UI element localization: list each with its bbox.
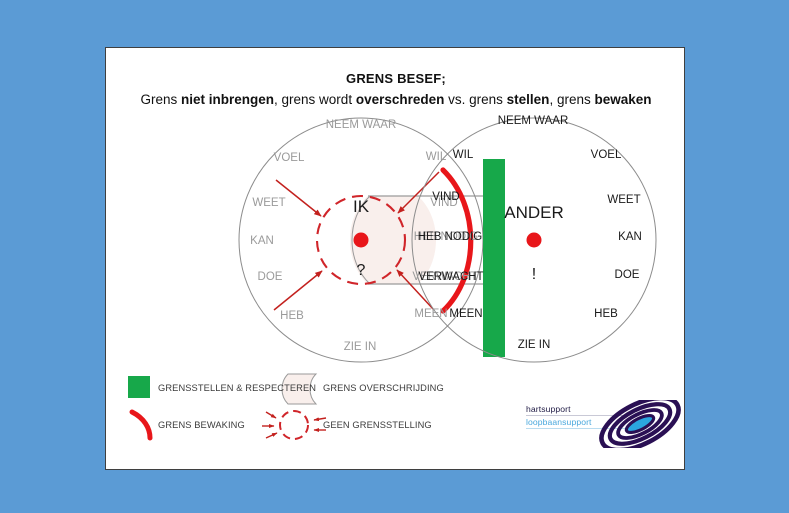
- right-label-neem-waar: NEEM WAAR: [498, 115, 569, 127]
- right-label-kan: KAN: [618, 231, 642, 243]
- green-square-icon: [128, 376, 150, 398]
- legend-label-grensstellen: GRENSSTELLEN & RESPECTEREN: [158, 383, 316, 393]
- left-label-weet: WEET: [252, 197, 285, 209]
- right-center-dot: [527, 233, 542, 248]
- right-center-mark: !: [532, 266, 536, 283]
- legend: GRENSSTELLEN & RESPECTEREN GRENS OVERSCH…: [120, 370, 480, 442]
- right-label-vind: VIND: [432, 191, 459, 203]
- left-label-doe: DOE: [258, 271, 283, 283]
- left-label-kan: KAN: [250, 235, 274, 247]
- right-label-meen: MEEN: [449, 308, 482, 320]
- right-label-voel: VOEL: [591, 149, 622, 161]
- left-center-mark: ?: [357, 262, 366, 279]
- dashed-circle-icon: [262, 411, 326, 439]
- right-label-weet: WEET: [607, 194, 640, 206]
- spiral-galaxy-icon: [596, 400, 684, 448]
- left-label-zie-in: ZIE IN: [344, 341, 377, 353]
- logo-loopbaansupport-text: loopbaansupport: [526, 417, 592, 427]
- right-label-verwacht: VERWACHT: [418, 271, 483, 283]
- left-label-neem-waar: NEEM WAAR: [326, 119, 397, 131]
- legend-label-geen-grensstelling: GEEN GRENSSTELLING: [323, 420, 432, 430]
- logo: hartsupport loopbaansupport: [516, 400, 686, 452]
- right-label-zie-in: ZIE IN: [518, 339, 551, 351]
- legend-icons: [120, 370, 480, 442]
- left-label-voel: VOEL: [274, 152, 305, 164]
- right-label-heb: HEB: [594, 308, 618, 320]
- right-label-doe: DOE: [615, 269, 640, 281]
- left-center-label: IK: [353, 197, 370, 216]
- left-label-heb: HEB: [280, 310, 304, 322]
- left-label-meen: MEEN: [414, 308, 447, 320]
- legend-label-overschrijding: GRENS OVERSCHRIJDING: [323, 383, 444, 393]
- logo-hartsupport-text: hartsupport: [526, 404, 571, 414]
- slide-panel: GRENS BESEF; Grens niet inbrengen, grens…: [105, 47, 685, 470]
- grensstellen-green-bar: [483, 159, 505, 357]
- left-center-dot: [354, 233, 369, 248]
- slide-canvas: GRENS BESEF; Grens niet inbrengen, grens…: [0, 0, 789, 513]
- red-arc-icon: [132, 412, 150, 438]
- left-label-wil: WIL: [426, 151, 447, 163]
- right-label-heb-nodig: HEB NODIG: [418, 231, 483, 243]
- right-label-wil: WIL: [453, 149, 474, 161]
- right-center-label: ANDER: [504, 203, 564, 222]
- legend-label-bewaking: GRENS BEWAKING: [158, 420, 245, 430]
